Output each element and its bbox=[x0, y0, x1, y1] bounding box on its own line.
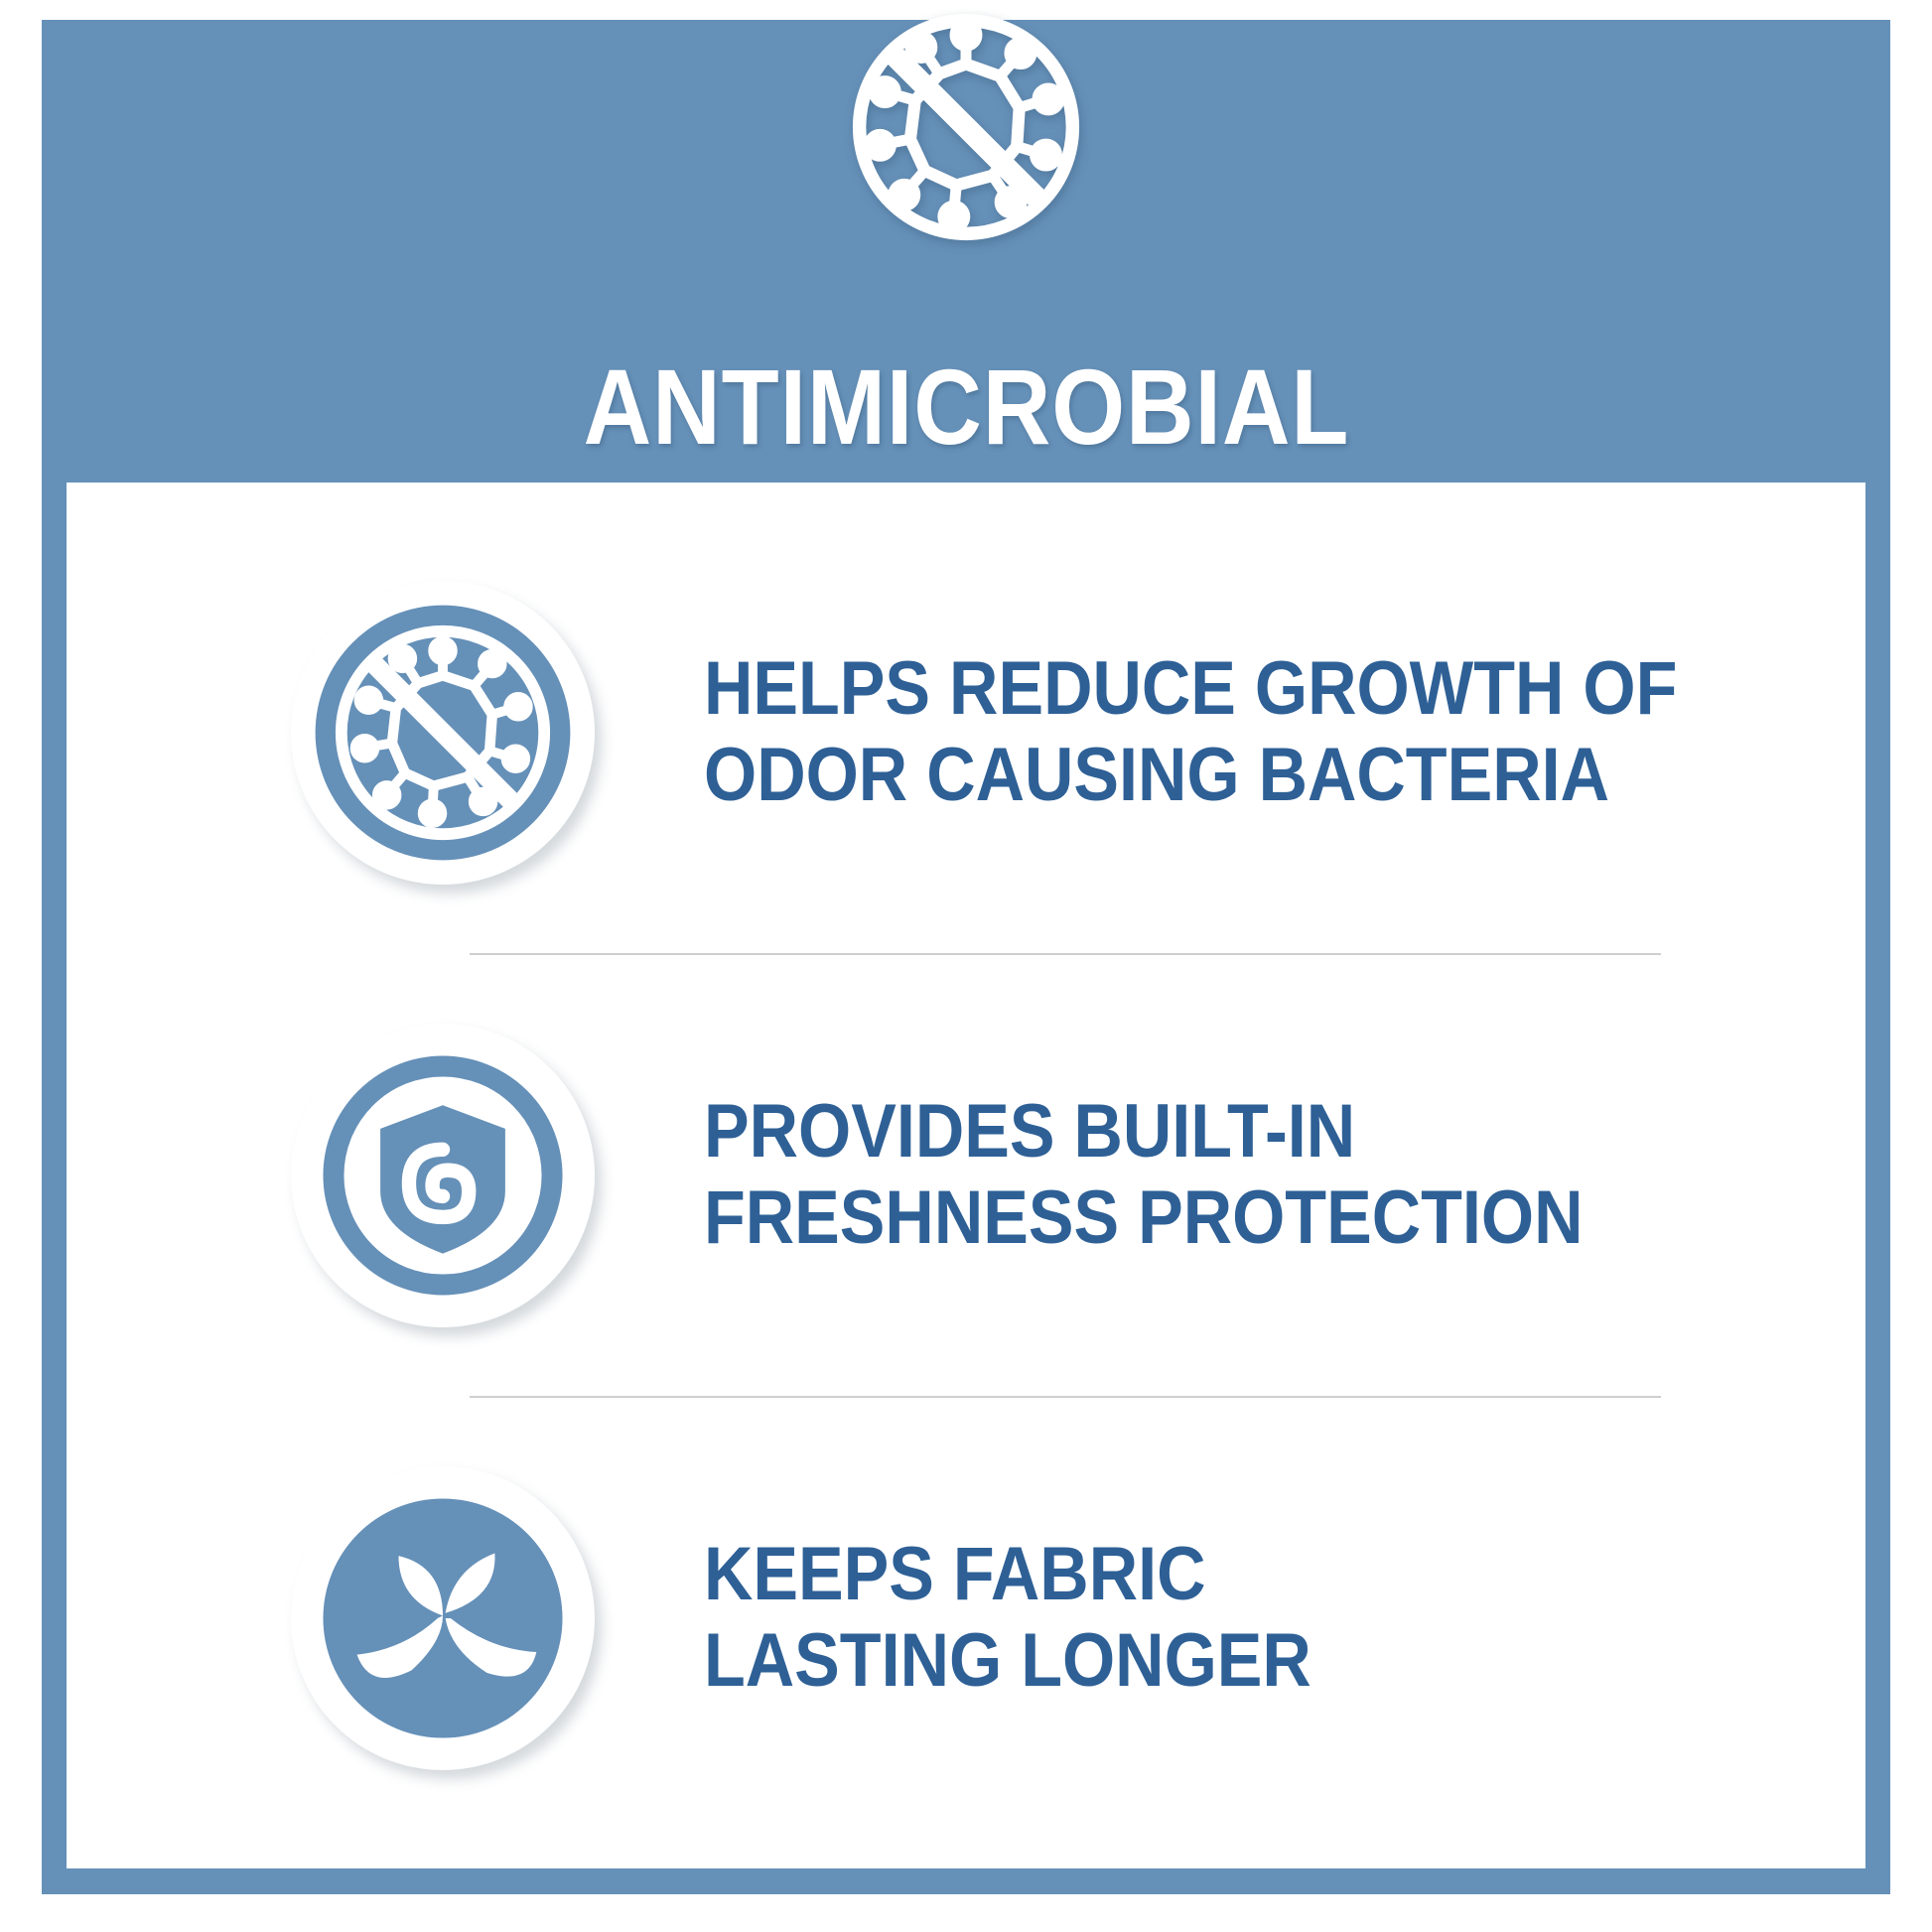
row-divider-1 bbox=[470, 953, 1661, 955]
no-virus-icon bbox=[291, 581, 595, 885]
feature-row-1: HELPS REDUCE GROWTH OF ODOR CAUSING BACT… bbox=[67, 528, 1865, 937]
shield-swirl-icon bbox=[291, 1024, 595, 1327]
antimicrobial-infographic: ANTIMICROBIAL bbox=[0, 0, 1932, 1932]
feature-line-1: PROVIDES BUILT-IN bbox=[704, 1089, 1355, 1173]
feature-row-3: KEEPS FABRIC LASTING LONGER bbox=[67, 1414, 1865, 1823]
row-divider-2 bbox=[470, 1396, 1661, 1398]
feature-line-2: LASTING LONGER bbox=[704, 1618, 1311, 1705]
feature-text-3: KEEPS FABRIC LASTING LONGER bbox=[704, 1532, 1311, 1704]
page-title: ANTIMICROBIAL bbox=[583, 353, 1349, 461]
feature-line-1: HELPS REDUCE GROWTH OF bbox=[704, 646, 1677, 731]
feature-line-1: KEEPS FABRIC bbox=[704, 1532, 1205, 1616]
feature-line-2: FRESHNESS PROTECTION bbox=[704, 1175, 1584, 1262]
feature-line-2: ODOR CAUSING BACTERIA bbox=[704, 733, 1677, 819]
feature-text-2: PROVIDES BUILT-IN FRESHNESS PROTECTION bbox=[704, 1089, 1584, 1261]
no-virus-icon bbox=[845, 6, 1087, 248]
feature-list: HELPS REDUCE GROWTH OF ODOR CAUSING BACT… bbox=[67, 483, 1865, 1868]
feature-row-2: PROVIDES BUILT-IN FRESHNESS PROTECTION bbox=[67, 971, 1865, 1380]
leaf-sprout-icon bbox=[291, 1466, 595, 1770]
feature-text-1: HELPS REDUCE GROWTH OF ODOR CAUSING BACT… bbox=[704, 646, 1677, 818]
